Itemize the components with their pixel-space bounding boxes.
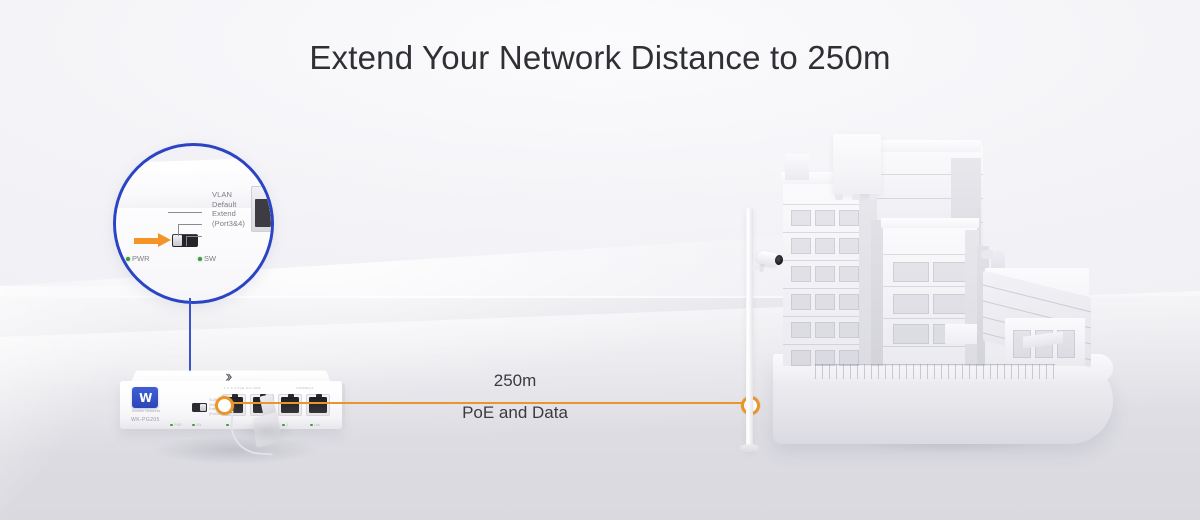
building-middle-face [883, 224, 977, 366]
link-annotation: 250m PoE and Data [400, 370, 630, 424]
rooftop-billboard [833, 134, 881, 194]
rooftop-ac-units [835, 194, 877, 200]
dip-label-extend: Extend [212, 209, 271, 219]
arrow-shaft [134, 238, 160, 244]
magnified-led-pwr: PWR [126, 254, 150, 263]
dip-label-default: Default [212, 200, 271, 210]
magnifier-contents: VLAN Default Extend (Port3&4) PWR SW [116, 146, 271, 301]
link-distance-label: 250m [400, 370, 630, 392]
model-number-label: WK-PG205 [131, 417, 160, 423]
window-row [791, 294, 859, 310]
dip-label-ports: (Port3&4) [212, 219, 271, 229]
rj45-port-3[interactable] [278, 394, 302, 416]
dip-switch-magnifier: VLAN Default Extend (Port3&4) PWR SW [113, 143, 274, 304]
building-middle-roof [881, 218, 979, 228]
link-endpoint-switch [215, 396, 234, 415]
link-type-label: PoE and Data [400, 402, 630, 424]
panel-led-sw: SW [192, 423, 201, 427]
perimeter-fence [815, 364, 1055, 379]
cable-shadow [232, 416, 316, 446]
window-row [791, 238, 859, 254]
dip-switch[interactable] [192, 403, 207, 412]
dip-switch-labels: VLAN Default Extend (Port3&4) [212, 190, 271, 228]
dip-switch-area[interactable]: VLANDefaultExtend(Port3&4) [190, 391, 216, 421]
led-dot-icon [126, 257, 130, 261]
building-sign-panel [945, 324, 979, 344]
building-rear-roof [877, 140, 981, 152]
port-group-label-left: 1 2 3 4 PoE Out 30W [224, 386, 261, 390]
label-leader-lines [168, 198, 210, 244]
brand-logo-caption: Smarter Networks [129, 409, 163, 413]
window-row [791, 210, 859, 226]
diagram-canvas: Extend Your Network Distance to 250m VLA… [0, 0, 1200, 520]
city-block-model [755, 128, 1125, 448]
led-sw-label: SW [204, 254, 216, 263]
building-left-face [783, 180, 871, 366]
panel-led-pwr: PWR [170, 423, 182, 427]
window-row [893, 294, 969, 314]
port-group-label-right: 1000Mbps [296, 386, 314, 390]
page-title: Extend Your Network Distance to 250m [0, 38, 1200, 78]
mounting-pole [746, 208, 753, 452]
window-row [893, 262, 969, 282]
window-row [791, 322, 859, 338]
led-dot-icon [198, 257, 202, 261]
window-row [791, 266, 859, 282]
rooftop-box-small [785, 154, 809, 180]
dip-label-vlan: VLAN [212, 190, 271, 200]
top-gloss [153, 372, 270, 377]
brand-logo-badge: W [132, 387, 158, 408]
led-pwr-label: PWR [132, 254, 150, 263]
magnified-led-sw: SW [198, 254, 216, 263]
rj45-port-4[interactable] [306, 394, 330, 416]
